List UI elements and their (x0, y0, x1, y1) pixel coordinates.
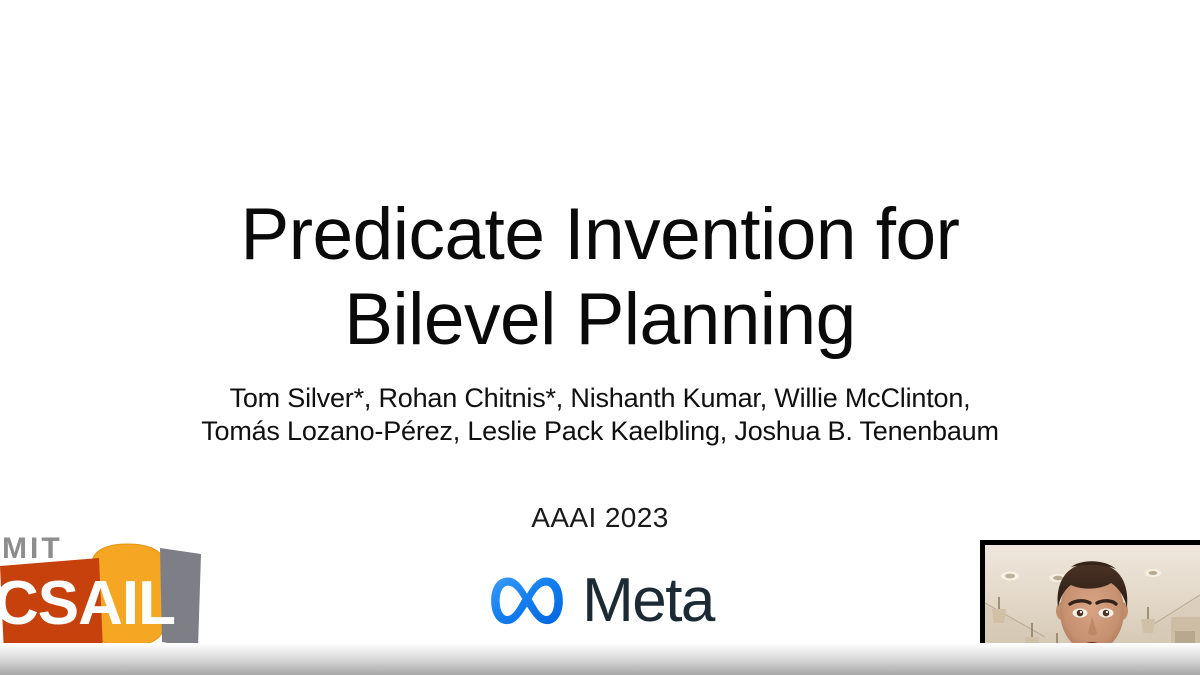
author-line-1: Tom Silver*, Rohan Chitnis*, Nishanth Ku… (0, 382, 1200, 415)
page-title: Predicate Invention for Bilevel Planning (0, 192, 1200, 362)
csail-mit-text: MIT (2, 532, 63, 565)
author-list: Tom Silver*, Rohan Chitnis*, Nishanth Ku… (0, 382, 1200, 448)
meta-infinity-icon (486, 570, 568, 632)
presentation-slide: Predicate Invention for Bilevel Planning… (0, 0, 1200, 675)
title-line-2: Bilevel Planning (0, 277, 1200, 362)
slide-bottom-gradient-band (0, 643, 1200, 675)
meta-wordmark: Meta (582, 570, 714, 632)
csail-csail-text: CSAIL (0, 569, 175, 638)
title-line-1: Predicate Invention for (0, 192, 1200, 277)
author-line-2: Tomás Lozano-Pérez, Leslie Pack Kaelblin… (0, 415, 1200, 448)
